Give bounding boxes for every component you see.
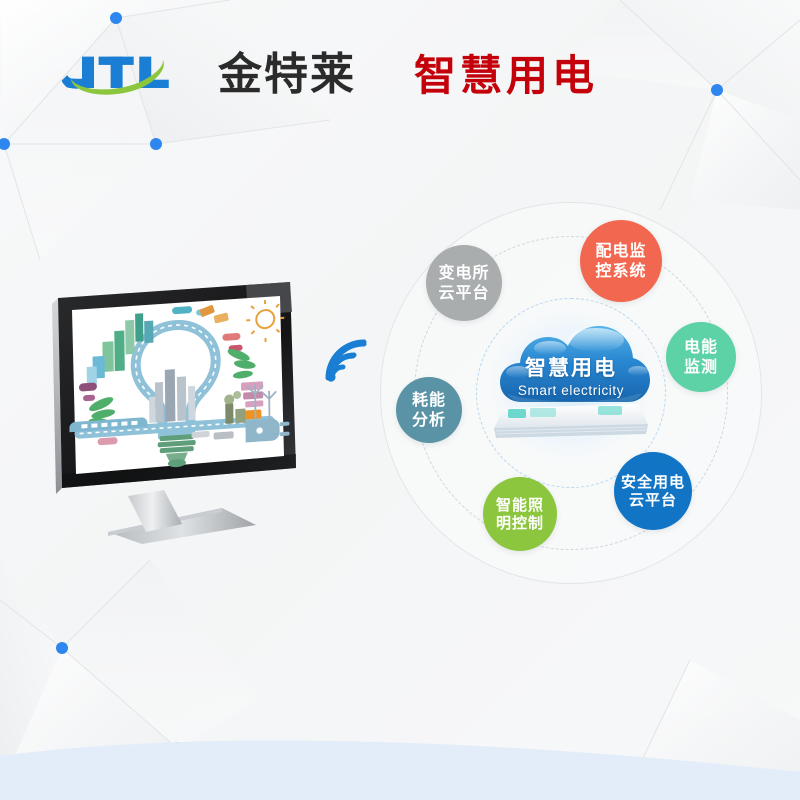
- page-title: 智慧用电: [414, 52, 598, 100]
- bubble-line-1: 耗能: [412, 390, 446, 410]
- bubble-line-2: 分析: [412, 410, 446, 430]
- bubble-line-1: 电能: [684, 337, 718, 357]
- bubble-consumption-analysis[interactable]: 耗能 分析: [396, 377, 462, 443]
- bubble-line-2: 云平台: [621, 491, 685, 509]
- brand-name-cn: 金特莱: [218, 47, 356, 103]
- smart-electricity-diagram: 智慧用电 Smart electricity 变电所 云平台 配电监 控系统 电…: [370, 190, 770, 590]
- bubble-distribution-monitoring[interactable]: 配电监 控系统: [580, 220, 662, 302]
- bubble-line-1: 智能照: [496, 496, 544, 514]
- desktop-monitor: [50, 282, 325, 552]
- bubble-safe-electricity-cloud[interactable]: 安全用电 云平台: [614, 452, 692, 530]
- bottom-wave: [0, 720, 800, 800]
- bubble-smart-lighting-control[interactable]: 智能照 明控制: [483, 477, 557, 551]
- bubble-line-2: 控系统: [595, 261, 646, 281]
- page-root: 金特莱 智慧用电: [0, 0, 800, 800]
- jtl-logo-icon: [58, 45, 178, 107]
- bubble-line-1: 配电监: [595, 241, 646, 261]
- bubble-line-2: 明控制: [496, 514, 544, 532]
- bubble-energy-metering[interactable]: 电能 监测: [666, 322, 736, 392]
- bubble-line-2: 云平台: [438, 283, 489, 303]
- brand-logo: 金特莱: [58, 45, 358, 107]
- bubble-line-2: 监测: [684, 357, 718, 377]
- bubble-line-1: 安全用电: [621, 473, 685, 491]
- header: 金特莱 智慧用电: [0, 0, 800, 140]
- bubble-line-1: 变电所: [438, 263, 489, 283]
- bubble-substation-cloud[interactable]: 变电所 云平台: [426, 245, 502, 321]
- wifi-signal-icon: [318, 332, 374, 388]
